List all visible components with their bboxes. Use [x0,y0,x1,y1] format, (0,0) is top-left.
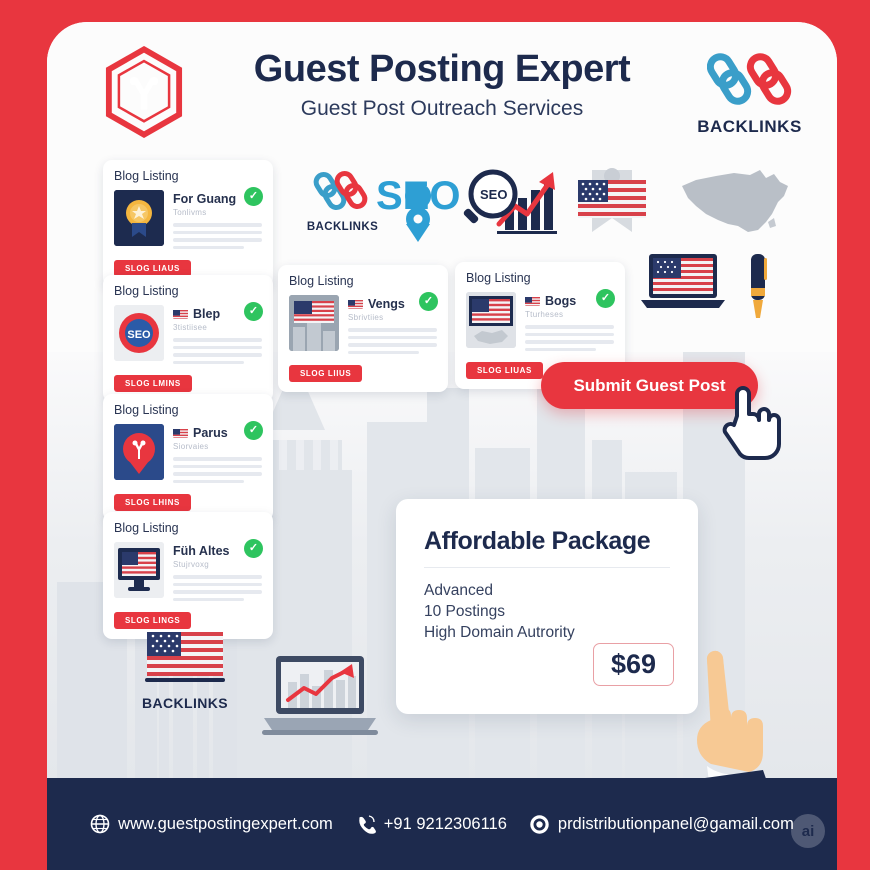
verified-check-icon: ✓ [419,292,438,311]
title-block: Guest Posting Expert Guest Post Outreach… [207,48,677,121]
card-title: Blog Listing [114,284,262,298]
award-ribbon-icon [114,190,164,246]
phone-icon [355,814,376,834]
flag-bookmark-icon [570,162,654,246]
card-name: Parus [193,426,228,440]
card-subtext: Tturheses [525,310,614,319]
placeholder-lines [525,325,614,351]
flag-city-icon [289,295,339,351]
backlinks-chain-icon [707,50,793,108]
card-name: Bogs [545,294,576,308]
pen-icon [743,250,773,328]
card-name: Vengs [368,297,405,311]
usa-flag-icon [173,309,188,319]
blog-listing-card[interactable]: Blog Listing ✓ For Guang Tonlivms SLOG L… [103,160,273,287]
placeholder-lines [173,223,262,249]
icon-usa-map [675,164,795,245]
poster-frame: Guest Posting Expert Guest Post Outreach… [47,22,837,870]
footer-email-text: prdistributionpanel@gamail.com [558,815,794,834]
package-line-3: High Domain Autrority [424,622,670,643]
placeholder-lines [173,457,262,483]
placeholder-lines [348,328,437,354]
flag-monitor-icon [114,542,164,598]
card-badge[interactable]: SLOG LMINS [114,375,192,392]
usa-map-icon [676,164,794,240]
usa-flag-icon [525,296,540,306]
placeholder-lines [173,338,262,364]
icon-seo-analytics: SEO [452,162,562,249]
card-name: For Guang [173,192,236,206]
ai-watermark-badge: ai [791,814,825,848]
blog-listing-card[interactable]: Blog Listing ✓ Parus [103,394,273,521]
placeholder-lines [173,575,262,601]
icon-flag-bookmark [567,162,657,251]
card-title: Blog Listing [114,521,262,535]
footer-bar: www.guestpostingexpert.com +91 921230611… [47,778,837,870]
seo-stamp-icon: SEO [114,305,164,361]
svg-text:SEO: SEO [127,329,151,341]
package-line-2: 10 Postings [424,601,670,622]
guest-posting-expert-logo [102,46,186,138]
usa-flag-icon [145,630,225,684]
laptop-growth-chart-icon [260,652,380,744]
card-subtext: Stujrvoxg [173,560,262,569]
card-badge[interactable]: SLOG LINGS [114,612,191,629]
verified-check-icon: ✓ [596,289,615,308]
svg-text:SEO: SEO [480,187,507,202]
card-name: Blep [193,307,220,321]
footer-phone-text: +91 9212306116 [384,815,507,834]
bottom-backlinks-block: BACKLINKS [125,630,245,711]
icon-flag-laptop [635,252,730,319]
flag-map-icon [466,292,516,348]
hand-pointer-cursor [719,380,787,466]
logo-pin-icon [114,424,164,480]
card-subtext: Tonlivms [173,208,262,217]
flag-laptop-icon [639,252,727,314]
usa-flag-icon [348,299,363,309]
footer-website[interactable]: www.guestpostingexpert.com [90,814,333,834]
footer-website-text: www.guestpostingexpert.com [118,815,333,834]
card-title: Blog Listing [114,403,262,417]
page-title: Guest Posting Expert [207,48,677,91]
card-title: Blog Listing [114,169,262,183]
footer-email[interactable]: prdistributionpanel@gamail.com [529,814,794,835]
header-backlinks-badge: BACKLINKS [682,50,817,137]
verified-check-icon: ✓ [244,302,263,321]
bottom-backlinks-label: BACKLINKS [125,695,245,711]
card-title: Blog Listing [289,274,437,288]
at-circle-icon [529,814,550,835]
card-badge[interactable]: SLOG LIUAS [466,362,543,379]
backlinks-chain-icon [313,170,373,216]
page-subtitle: Guest Post Outreach Services [207,97,677,121]
card-subtext: 3tistiisee [173,323,262,332]
card-badge[interactable]: SLOG LHINS [114,494,191,511]
card-subtext: Sbrivtiies [348,313,437,322]
package-divider [424,567,670,568]
blog-listing-card[interactable]: Blog Listing ✓ [278,265,448,392]
package-heading: Affordable Package [424,527,670,556]
blog-listing-card[interactable]: Blog Listing SEO ✓ Blep [103,275,273,402]
blog-listing-card[interactable]: Blog Listing ✓ Füh Altes Stujrvoxg [103,512,273,639]
verified-check-icon: ✓ [244,187,263,206]
seo-magnifier-chart-icon: SEO [453,162,561,244]
card-name: Füh Altes [173,544,229,558]
package-line-1: Advanced [424,580,670,601]
usa-flag-icon [173,428,188,438]
card-title: Blog Listing [466,271,614,285]
card-subtext: Siorvaies [173,442,262,451]
affordable-package-card: Affordable Package Advanced 10 Postings … [396,499,698,714]
header-backlinks-label: BACKLINKS [682,117,817,137]
footer-phone[interactable]: +91 9212306116 [355,814,507,834]
verified-check-icon: ✓ [244,421,263,440]
package-price: $69 [593,643,674,686]
card-badge[interactable]: SLOG LIIUS [289,365,362,382]
verified-check-icon: ✓ [244,539,263,558]
icon-pen [737,250,779,333]
header: Guest Posting Expert Guest Post Outreach… [47,22,837,147]
globe-icon [90,814,110,834]
